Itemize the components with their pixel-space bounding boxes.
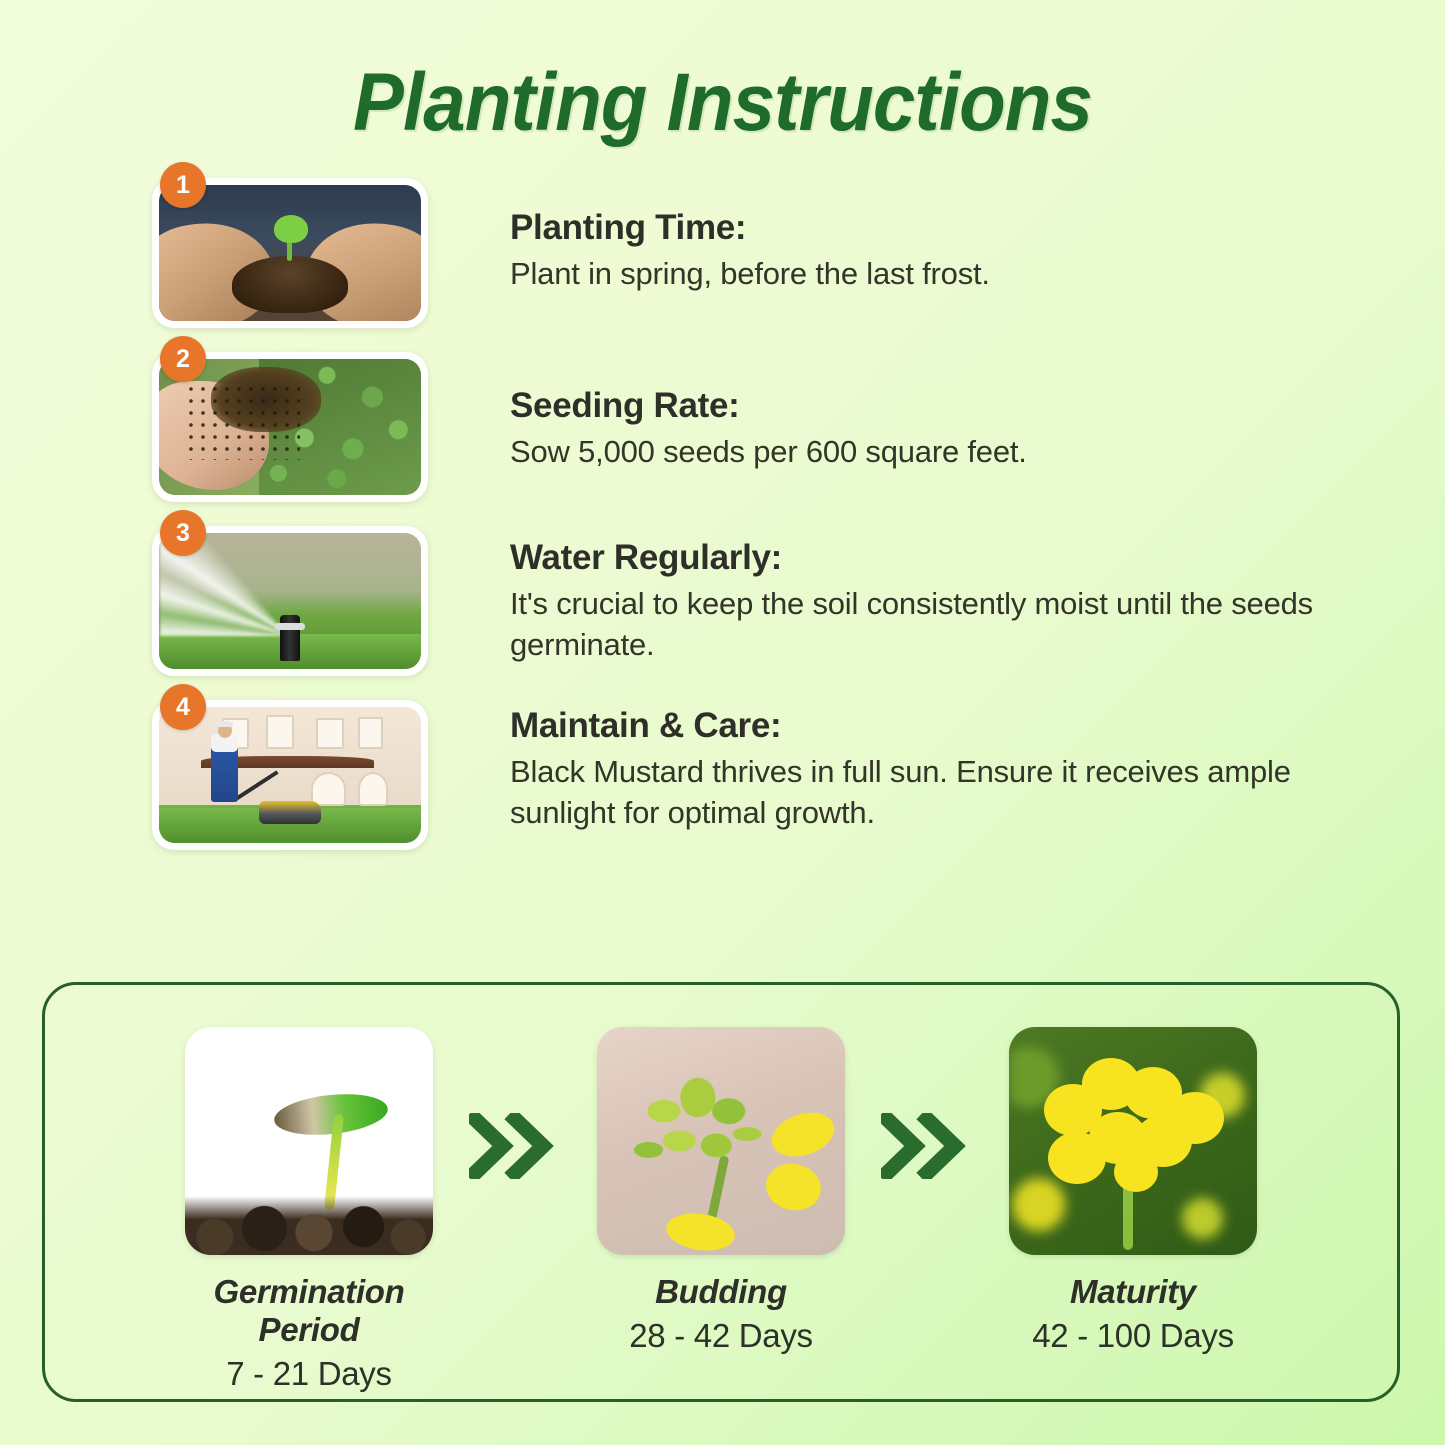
step-body: It's crucial to keep the soil consistent… <box>510 584 1385 666</box>
step-number-badge: 4 <box>160 684 206 730</box>
stage-name: Budding <box>571 1273 871 1311</box>
step-heading: Seeding Rate: <box>510 386 1027 426</box>
instruction-step: 4 <box>152 684 1385 850</box>
stage-name: Germination Period <box>159 1273 459 1349</box>
double-chevron-right-icon <box>871 985 983 1179</box>
step-body: Sow 5,000 seeds per 600 square feet. <box>510 432 1027 473</box>
stage-name: Maturity <box>983 1273 1283 1311</box>
seeding-illustration <box>159 359 421 495</box>
step-image-hands-holding-soil-with-seedling <box>159 185 421 321</box>
step-number-badge: 2 <box>160 336 206 382</box>
maturity-illustration <box>1009 1027 1257 1255</box>
timeline-stage-maturity: Maturity 42 - 100 Days <box>983 985 1283 1355</box>
timeline-stage-germination: Germination Period 7 - 21 Days <box>159 985 459 1393</box>
step-text-block: Seeding Rate: Sow 5,000 seeds per 600 sq… <box>444 336 1027 473</box>
page-title: Planting Instructions <box>51 0 1395 144</box>
step-number-badge: 1 <box>160 162 206 208</box>
instruction-step: 1 Planting Time: Plant in spring, before… <box>152 162 1385 328</box>
timeline-stage-budding: Budding 28 - 42 Days <box>571 985 871 1355</box>
step-thumbnail-wrap: 3 <box>152 510 444 676</box>
stage-image-sprouting-seed-in-soil <box>185 1027 433 1255</box>
step-text-block: Water Regularly: It's crucial to keep th… <box>444 510 1385 666</box>
step-text-block: Planting Time: Plant in spring, before t… <box>444 162 990 295</box>
sprinkler-illustration <box>159 533 421 669</box>
stage-image-yellow-mustard-flowers <box>1009 1027 1257 1255</box>
budding-illustration <box>597 1027 845 1255</box>
step-heading: Planting Time: <box>510 208 990 248</box>
instruction-step: 2 Seeding Rate: Sow 5,000 seeds per 600 … <box>152 336 1385 502</box>
instruction-step: 3 Water Regularly: It's crucial to keep … <box>152 510 1385 676</box>
step-thumbnail-wrap: 4 <box>152 684 444 850</box>
step-number-badge: 3 <box>160 510 206 556</box>
growth-timeline-panel: Germination Period 7 - 21 Days Budding 2… <box>42 982 1400 1402</box>
stage-days: 28 - 42 Days <box>571 1317 871 1355</box>
step-thumbnail-wrap: 1 <box>152 162 444 328</box>
step-text-block: Maintain & Care: Black Mustard thrives i… <box>444 684 1385 834</box>
step-image-lawn-sprinkler-watering-grass <box>159 533 421 669</box>
step-thumbnail-wrap: 2 <box>152 336 444 502</box>
step-body: Black Mustard thrives in full sun. Ensur… <box>510 752 1385 834</box>
step-image-man-mowing-lawn-in-front-of-house <box>159 707 421 843</box>
germination-illustration <box>185 1027 433 1255</box>
double-chevron-right-icon <box>459 985 571 1179</box>
step-image-hand-scattering-seeds-over-sprouts <box>159 359 421 495</box>
soil-seedling-illustration <box>159 185 421 321</box>
stage-days: 7 - 21 Days <box>159 1355 459 1393</box>
stage-image-green-flower-buds <box>597 1027 845 1255</box>
step-body: Plant in spring, before the last frost. <box>510 254 990 295</box>
step-heading: Water Regularly: <box>510 538 1385 578</box>
stage-days: 42 - 100 Days <box>983 1317 1283 1355</box>
step-heading: Maintain & Care: <box>510 706 1385 746</box>
mowing-illustration <box>159 707 421 843</box>
instruction-steps-list: 1 Planting Time: Plant in spring, before… <box>0 162 1445 850</box>
